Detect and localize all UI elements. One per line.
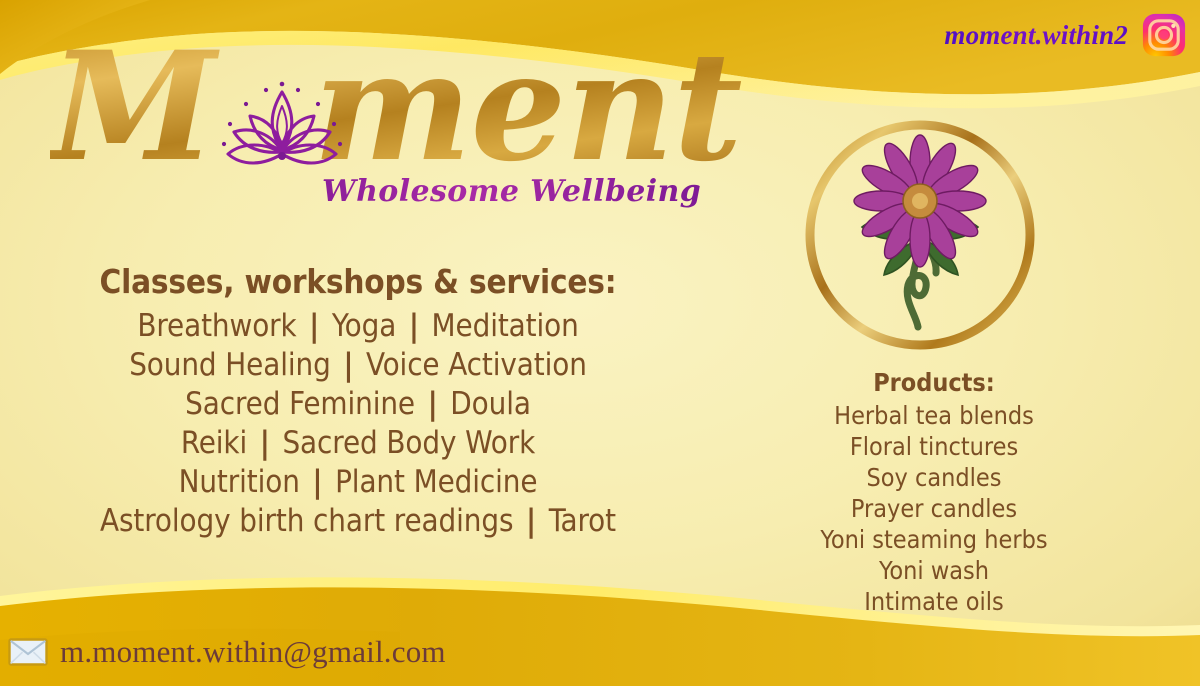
services-separator: |	[396, 308, 431, 344]
service-item: Sacred Feminine	[185, 386, 415, 422]
services-line: Sacred Feminine | Doula	[22, 385, 694, 424]
services-separator: |	[247, 425, 282, 461]
instagram-icon[interactable]	[1142, 13, 1186, 57]
products-block: Products: Herbal tea blendsFloral tinctu…	[760, 368, 1108, 617]
services-separator: |	[331, 347, 366, 383]
service-item: Astrology birth chart readings	[100, 503, 513, 539]
services-line: Astrology birth chart readings | Tarot	[22, 502, 694, 541]
lotus-mandala-icon	[216, 72, 348, 188]
services-line: Reiki | Sacred Body Work	[22, 424, 694, 463]
contact-email[interactable]: m.moment.within@gmail.com	[60, 634, 446, 670]
product-item: Floral tinctures	[760, 431, 1108, 462]
products-list: Herbal tea blendsFloral tincturesSoy can…	[760, 400, 1108, 617]
wordmark-part-1: M	[50, 19, 215, 195]
service-item: Voice Activation	[366, 347, 587, 383]
product-item: Yoni wash	[760, 555, 1108, 586]
brand-wordmark: Mment	[50, 32, 742, 182]
services-separator: |	[513, 503, 548, 539]
services-separator: |	[415, 386, 450, 422]
services-heading: Classes, workshops & services:	[22, 262, 694, 301]
envelope-icon	[8, 638, 48, 666]
service-item: Sound Healing	[129, 347, 331, 383]
services-separator: |	[297, 308, 332, 344]
service-item: Sacred Body Work	[282, 425, 535, 461]
service-item: Breathwork	[137, 308, 296, 344]
service-item: Meditation	[432, 308, 579, 344]
service-item: Yoga	[332, 308, 396, 344]
services-block: Classes, workshops & services: Breathwor…	[22, 262, 694, 541]
service-item: Plant Medicine	[335, 464, 537, 500]
product-item: Soy candles	[760, 462, 1108, 493]
products-heading: Products:	[760, 368, 1108, 397]
services-separator: |	[300, 464, 335, 500]
service-item: Nutrition	[179, 464, 300, 500]
product-item: Prayer candles	[760, 493, 1108, 524]
product-item: Yoni steaming herbs	[760, 524, 1108, 555]
services-line: Nutrition | Plant Medicine	[22, 463, 694, 502]
brand-tagline: Wholesome Wellbeing	[322, 174, 701, 209]
services-list: Breathwork | Yoga | MeditationSound Heal…	[22, 307, 694, 541]
flyer-canvas: moment.within2 Mment	[0, 0, 1200, 686]
service-item: Tarot	[549, 503, 616, 539]
instagram-handle[interactable]: moment.within2	[944, 20, 1128, 51]
service-item: Reiki	[181, 425, 247, 461]
contact-row[interactable]: m.moment.within@gmail.com	[8, 634, 446, 670]
services-line: Sound Healing | Voice Activation	[22, 346, 694, 385]
product-item: Intimate oils	[760, 586, 1108, 617]
services-line: Breathwork | Yoga | Meditation	[22, 307, 694, 346]
service-item: Doula	[450, 386, 531, 422]
instagram-row[interactable]: moment.within2	[944, 13, 1186, 57]
product-item: Herbal tea blends	[760, 400, 1108, 431]
purple-flower-serpent-emblem	[800, 115, 1040, 355]
wordmark-part-2: ment	[313, 19, 742, 195]
